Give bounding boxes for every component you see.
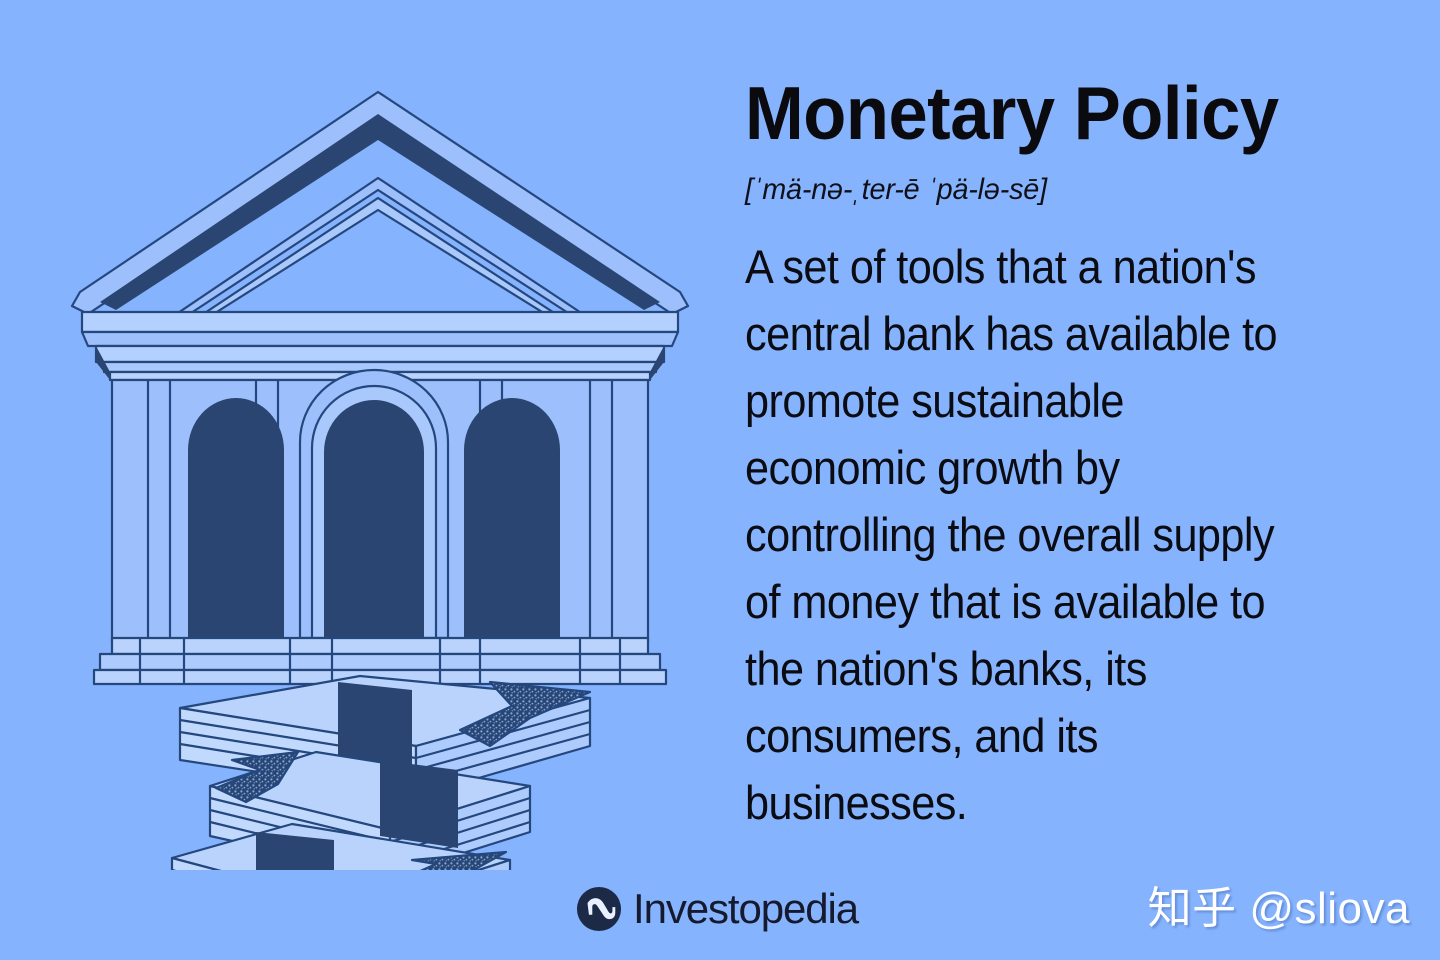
definition-line: promote sustainable xyxy=(745,367,1440,434)
definition-line: economic growth by xyxy=(745,434,1440,501)
page-title: Monetary Policy xyxy=(745,78,1394,149)
zhihu-watermark: 知乎 @sliova xyxy=(1148,872,1410,936)
infographic-card: Monetary Policy [ˈmä-nə-ˌter-ē ˈpä-lə-sē… xyxy=(0,0,1440,960)
arched-windows xyxy=(188,370,560,638)
pronunciation-text: [ˈmä-nə-ˌter-ē ˈpä-lə-sē] xyxy=(745,173,1407,207)
definition-text: A set of tools that a nation's central b… xyxy=(745,233,1440,836)
definition-line: of money that is available to xyxy=(745,568,1440,635)
bank-building-illustration xyxy=(60,70,700,870)
definition-line: businesses. xyxy=(745,769,1440,836)
arched-window-right xyxy=(464,398,560,638)
definition-line: A set of tools that a nation's xyxy=(745,233,1440,300)
investopedia-bolt-icon xyxy=(576,886,622,932)
pediment-roof xyxy=(72,92,688,348)
arched-window-left xyxy=(188,398,284,638)
arched-window-center xyxy=(324,400,424,638)
definition-line: the nation's banks, its xyxy=(745,635,1440,702)
definition-line: consumers, and its xyxy=(745,702,1440,769)
definition-line: central bank has available to xyxy=(745,300,1440,367)
definition-line: controlling the overall supply xyxy=(745,501,1440,568)
brand-name-label: Investopedia xyxy=(633,888,858,930)
text-column: Monetary Policy [ˈmä-nə-ˌter-ē ˈpä-lə-sē… xyxy=(745,78,1435,836)
investopedia-logo: Investopedia xyxy=(576,886,858,932)
